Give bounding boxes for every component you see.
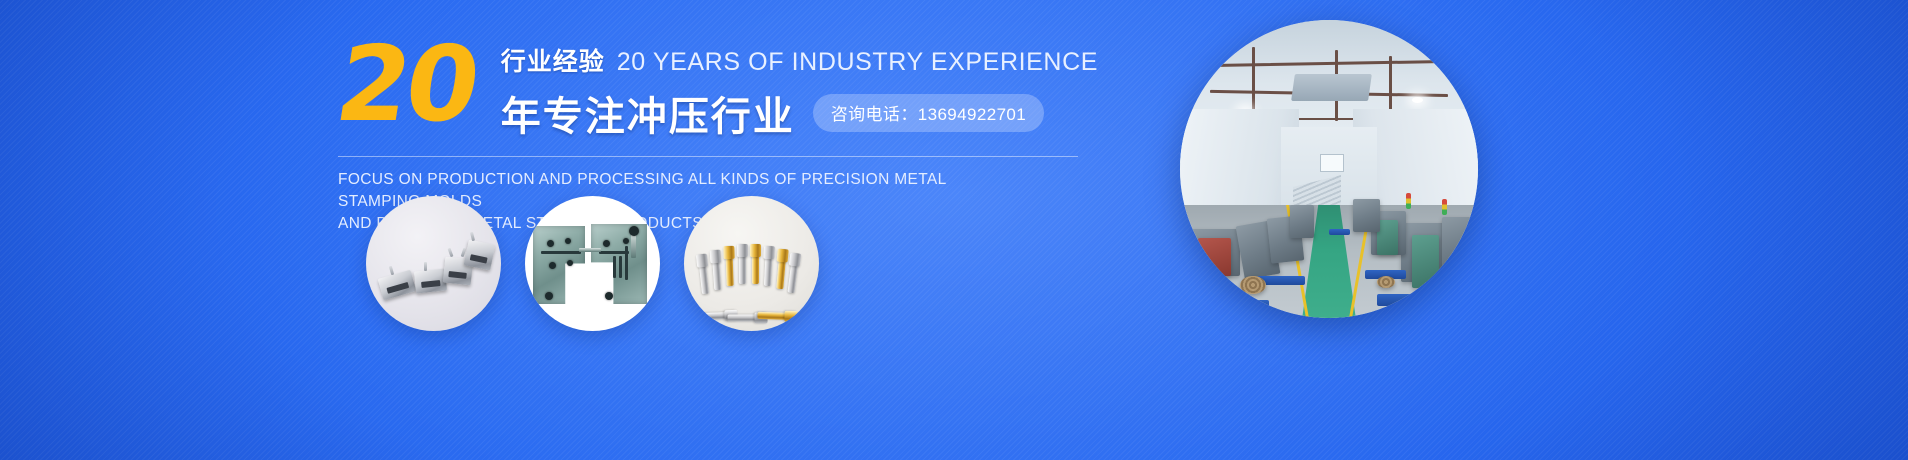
die-hole-8 [545, 292, 553, 300]
machine-left-red-cabinet [1198, 238, 1231, 277]
machine-left-4 [1290, 205, 1314, 238]
die-pin-1 [579, 248, 601, 252]
headline-cn-small: 行业经验 [501, 42, 605, 78]
product-circle-stamping-die[interactable] [525, 196, 660, 331]
machine-right-4 [1442, 217, 1472, 277]
die-slot-4 [613, 256, 616, 278]
terminal-pin-2 [712, 250, 722, 290]
headline-row: 20 行业经验 20 YEARS OF INDUSTRY EXPERIENCE … [338, 36, 1098, 142]
die-hole-3 [549, 262, 556, 269]
terminal-pin-1 [698, 254, 709, 295]
years-number: 20 [331, 40, 482, 129]
terminal-pin-7-gold [776, 249, 786, 289]
ceiling-duct-1 [1291, 74, 1372, 101]
die-half-left [533, 226, 585, 304]
die-slot-5 [619, 256, 622, 278]
machine-right-3 [1353, 199, 1380, 232]
die-slot-3 [625, 246, 628, 280]
die-hole-2 [565, 238, 571, 244]
product-circle-group [366, 196, 819, 331]
terminal-pin-11-gold [757, 312, 797, 320]
blue-crate-2 [1210, 300, 1270, 309]
blue-crate-5 [1329, 229, 1350, 235]
terminal-pin-8 [788, 253, 800, 294]
headline-text-group: 行业经验 20 YEARS OF INDUSTRY EXPERIENCE 年专注… [501, 36, 1098, 142]
headline-cn-big: 年专注冲压行业 [501, 84, 795, 142]
die-hole-5 [603, 240, 610, 247]
headline-divider [338, 156, 1078, 157]
die-slot-1 [541, 251, 581, 254]
wire-reel-2 [1377, 276, 1395, 288]
die-pin-head [629, 226, 639, 236]
usb-connector-1 [378, 270, 417, 301]
die-hole-1 [547, 240, 554, 247]
terminal-pin-6 [764, 246, 773, 286]
factory-workshop-photo[interactable] [1180, 20, 1478, 318]
signal-light-tower-1 [1406, 193, 1411, 209]
die-hole-7 [605, 292, 613, 300]
usb-pin-2 [424, 262, 427, 271]
hero-banner: 20 行业经验 20 YEARS OF INDUSTRY EXPERIENCE … [0, 0, 1908, 460]
terminal-pin-4 [739, 244, 746, 284]
signal-light-tower-2 [1442, 199, 1447, 215]
die-hole-4 [567, 260, 573, 266]
phone-badge[interactable]: 咨询电话：13694922701 [813, 94, 1044, 132]
usb-connector-4 [464, 239, 496, 270]
headline-line-1: 行业经验 20 YEARS OF INDUSTRY EXPERIENCE [501, 42, 1098, 78]
machine-right-green-2 [1377, 220, 1398, 256]
machine-right-green-1 [1412, 235, 1439, 289]
usb-pin-3 [448, 248, 454, 257]
usb-pin-1 [389, 266, 394, 275]
product-circle-terminal-pins[interactable] [684, 196, 819, 331]
product-circle-usb-connectors[interactable] [366, 196, 501, 331]
terminal-pin-5-gold [752, 244, 759, 284]
terminal-pin-3-gold [725, 246, 733, 286]
blue-crate-4 [1377, 294, 1460, 306]
headline-line-2: 年专注冲压行业 咨询电话：13694922701 [501, 84, 1098, 142]
die-hole-6 [623, 238, 629, 244]
headline-en: 20 YEARS OF INDUSTRY EXPERIENCE [617, 48, 1098, 77]
factory-window [1320, 154, 1344, 172]
wire-reel-1 [1240, 276, 1266, 294]
